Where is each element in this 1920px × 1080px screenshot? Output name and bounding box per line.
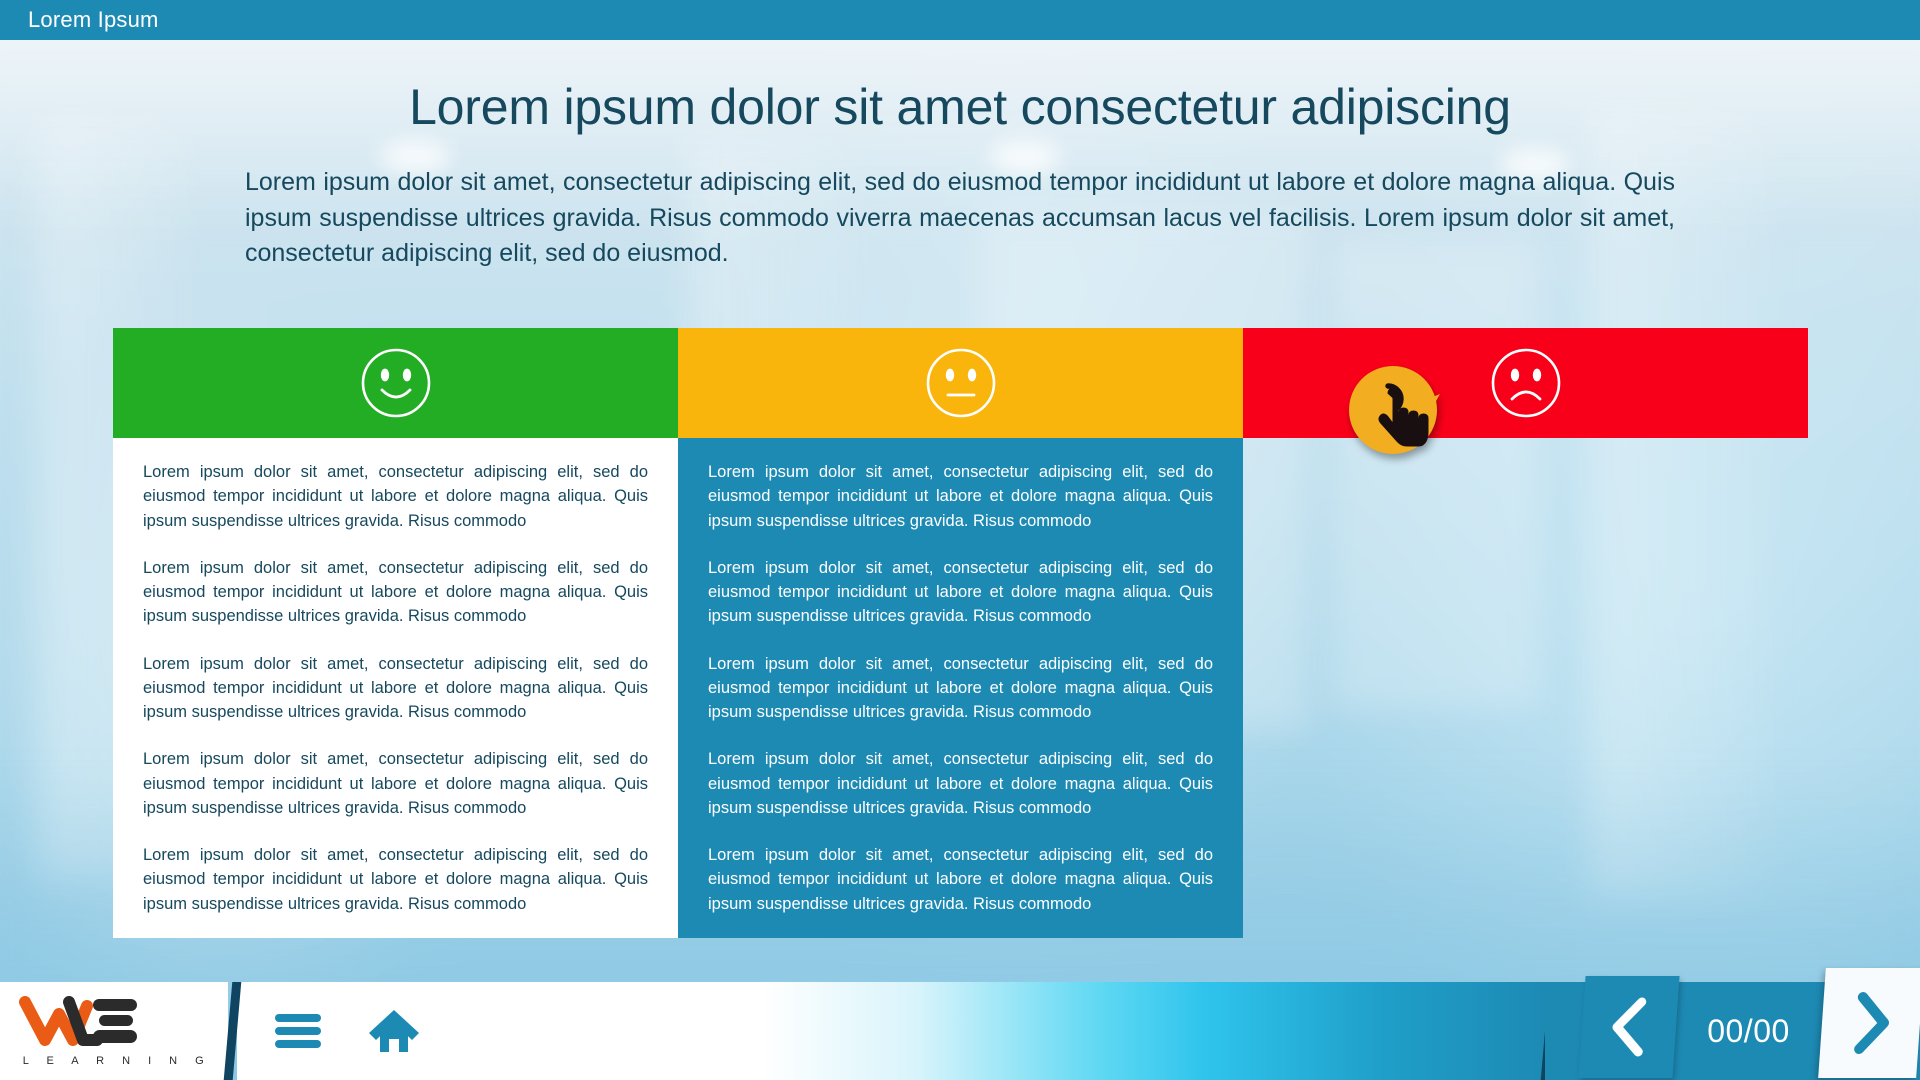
previous-slide-button[interactable] xyxy=(1578,976,1679,1078)
page-counter: 00/00 xyxy=(1676,982,1821,1080)
slide-content: Lorem ipsum dolor sit amet consectetur a… xyxy=(0,40,1920,272)
panel-paragraph: Lorem ipsum dolor sit amet, consectetur … xyxy=(143,747,648,820)
chevron-left-icon xyxy=(1604,996,1654,1058)
bottom-navbar: L E A R N I N G 00/00 xyxy=(0,982,1920,1080)
panel-positive: Lorem ipsum dolor sit amet, consectetur … xyxy=(113,438,678,938)
module-title: Lorem Ipsum xyxy=(0,9,159,31)
panel-paragraph: Lorem ipsum dolor sit amet, consectetur … xyxy=(708,843,1213,916)
panel-paragraph: Lorem ipsum dolor sit amet, consectetur … xyxy=(143,460,648,533)
navbar-gradient-strip xyxy=(237,982,1545,1080)
panel-paragraph: Lorem ipsum dolor sit amet, consectetur … xyxy=(708,747,1213,820)
column-header-neutral[interactable] xyxy=(678,328,1243,438)
intro-paragraph: Lorem ipsum dolor sit amet, consectetur … xyxy=(245,165,1675,272)
hamburger-menu-icon[interactable] xyxy=(275,1014,321,1048)
panel-paragraph: Lorem ipsum dolor sit amet, consectetur … xyxy=(708,556,1213,629)
panel-neutral: Lorem ipsum dolor sit amet, consectetur … xyxy=(678,438,1243,938)
rating-text-panels: Lorem ipsum dolor sit amet, consectetur … xyxy=(113,438,1808,938)
logo-tagline: L E A R N I N G xyxy=(17,1055,212,1067)
slide-stage: Lorem Ipsum Lorem ipsum dolor sit amet c… xyxy=(0,0,1920,1080)
top-header-bar: Lorem Ipsum xyxy=(0,0,1920,40)
rating-header-bars xyxy=(113,328,1808,438)
panel-paragraph: Lorem ipsum dolor sit amet, consectetur … xyxy=(143,652,648,725)
hand-tap-cursor-icon xyxy=(1344,354,1456,466)
panel-paragraph: Lorem ipsum dolor sit amet, consectetur … xyxy=(143,843,648,916)
happy-face-icon xyxy=(358,345,434,421)
sad-face-icon xyxy=(1488,345,1564,421)
page-title: Lorem ipsum dolor sit amet consectetur a… xyxy=(0,80,1920,135)
panel-paragraph: Lorem ipsum dolor sit amet, consectetur … xyxy=(143,556,648,629)
column-header-negative[interactable] xyxy=(1243,328,1808,438)
next-slide-button[interactable] xyxy=(1818,968,1920,1078)
home-icon[interactable] xyxy=(367,1008,421,1054)
panel-paragraph: Lorem ipsum dolor sit amet, consectetur … xyxy=(708,652,1213,725)
panel-negative xyxy=(1243,438,1808,938)
chevron-right-icon xyxy=(1844,990,1899,1056)
neutral-face-icon xyxy=(923,345,999,421)
we-learning-logo-mark xyxy=(17,996,143,1048)
logo-area[interactable]: L E A R N I N G xyxy=(0,982,228,1080)
panel-paragraph: Lorem ipsum dolor sit amet, consectetur … xyxy=(708,460,1213,533)
column-header-positive[interactable] xyxy=(113,328,678,438)
